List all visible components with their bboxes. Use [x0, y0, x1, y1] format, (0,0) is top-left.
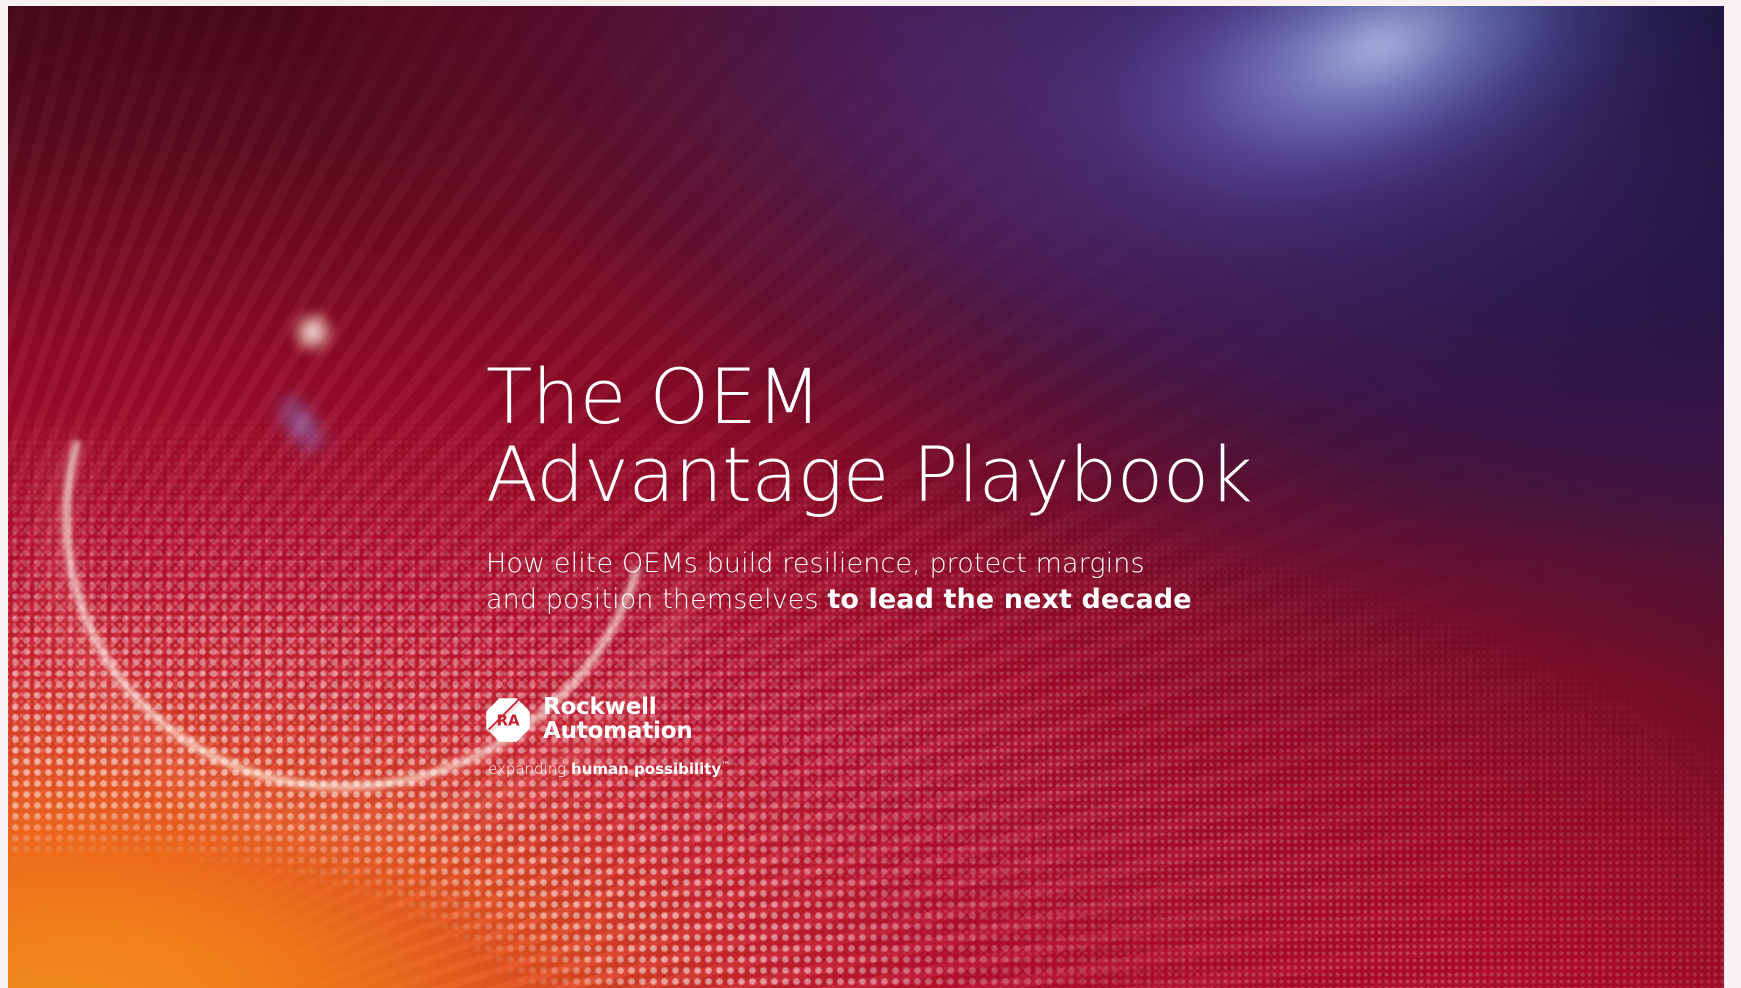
- tagline-regular: expanding: [488, 760, 571, 778]
- title-line-2: Advantage Playbook: [486, 436, 1486, 514]
- subtitle-line-2-regular: and position themselves: [486, 584, 827, 615]
- brand-tagline: expanding human possibility™: [488, 757, 1486, 778]
- logo-wordmark: Rockwell Automation: [543, 696, 693, 743]
- trademark-symbol: ™: [721, 761, 730, 771]
- cover-page: The OEM Advantage Playbook How elite OEM…: [0, 0, 1741, 988]
- page-subtitle: How elite OEMs build resilience, protect…: [486, 546, 1486, 618]
- brand-logo-lockup: RA Rockwell Automation expanding human p…: [486, 696, 1486, 778]
- rockwell-automation-octagon-icon: RA: [486, 698, 530, 742]
- logo-wordmark-line-1: Rockwell: [543, 696, 693, 720]
- subtitle-line-2-emphasis: to lead the next decade: [827, 584, 1191, 615]
- logo-wordmark-line-2: Automation: [543, 720, 693, 744]
- cover-content: The OEM Advantage Playbook How elite OEM…: [486, 358, 1486, 778]
- cover-artwork: The OEM Advantage Playbook How elite OEM…: [8, 6, 1724, 988]
- subtitle-line-2: and position themselves to lead the next…: [486, 582, 1486, 618]
- logo-row: RA Rockwell Automation: [486, 696, 1486, 743]
- page-title: The OEM Advantage Playbook: [486, 358, 1486, 514]
- tagline-strong: human possibility: [571, 760, 721, 778]
- svg-text:RA: RA: [496, 711, 520, 729]
- subtitle-line-1: How elite OEMs build resilience, protect…: [486, 546, 1486, 582]
- title-line-1: The OEM: [486, 358, 1486, 436]
